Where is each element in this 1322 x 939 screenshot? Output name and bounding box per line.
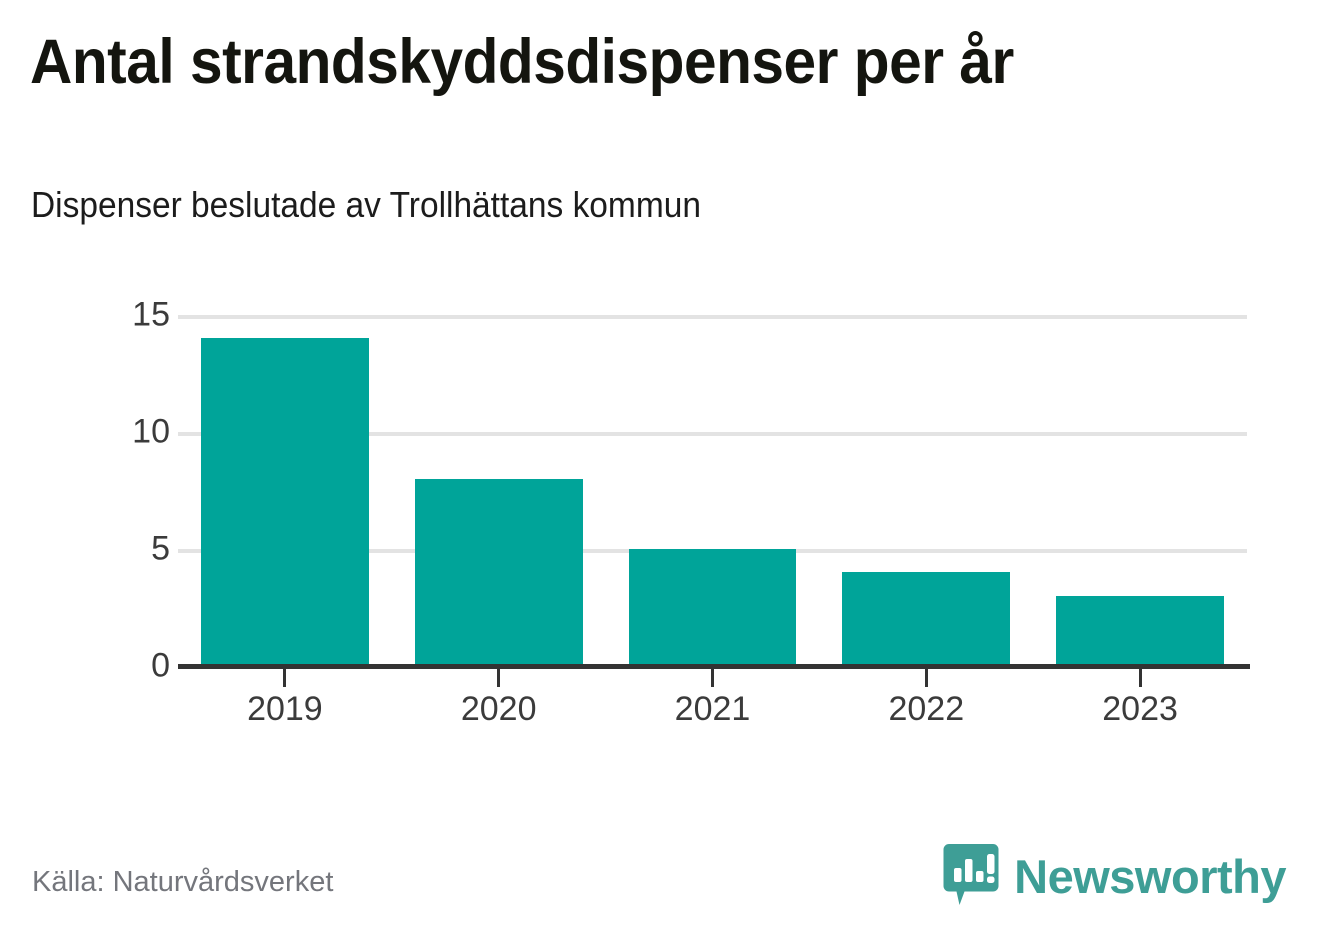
bar [629, 549, 797, 666]
x-axis-tick-mark [497, 669, 500, 687]
newsworthy-logo: Newsworthy [942, 840, 1286, 912]
bar [1056, 596, 1224, 666]
bar [842, 572, 1010, 666]
x-axis-tick-mark [711, 669, 714, 687]
source-note: Källa: Naturvårdsverket [32, 866, 333, 899]
speech-bubble-bar-chart-icon [942, 842, 1000, 910]
bar [415, 479, 583, 666]
x-axis-tick-label: 2019 [247, 690, 323, 729]
y-axis-tick-label: 15 [50, 296, 170, 335]
bar [201, 338, 369, 666]
y-axis-tick-label: 0 [50, 647, 170, 686]
x-axis-tick-label: 2023 [1102, 690, 1178, 729]
x-axis-tick-mark [925, 669, 928, 687]
newsworthy-wordmark: Newsworthy [1014, 853, 1286, 900]
x-axis-tick-mark [1139, 669, 1142, 687]
gridline [178, 315, 1247, 319]
x-axis-line [178, 664, 1250, 669]
x-axis-tick-label: 2022 [888, 690, 964, 729]
y-axis-tick-label: 5 [50, 530, 170, 569]
chart-page: Antal strandskyddsdispenser per år Dispe… [0, 0, 1322, 939]
y-axis-tick-label: 10 [50, 413, 170, 452]
bar-chart: 05101520192020202120222023 [0, 0, 1322, 939]
x-axis-tick-mark [283, 669, 286, 687]
plot-area [178, 315, 1247, 666]
x-axis-tick-label: 2020 [461, 690, 537, 729]
x-axis-tick-label: 2021 [675, 690, 751, 729]
